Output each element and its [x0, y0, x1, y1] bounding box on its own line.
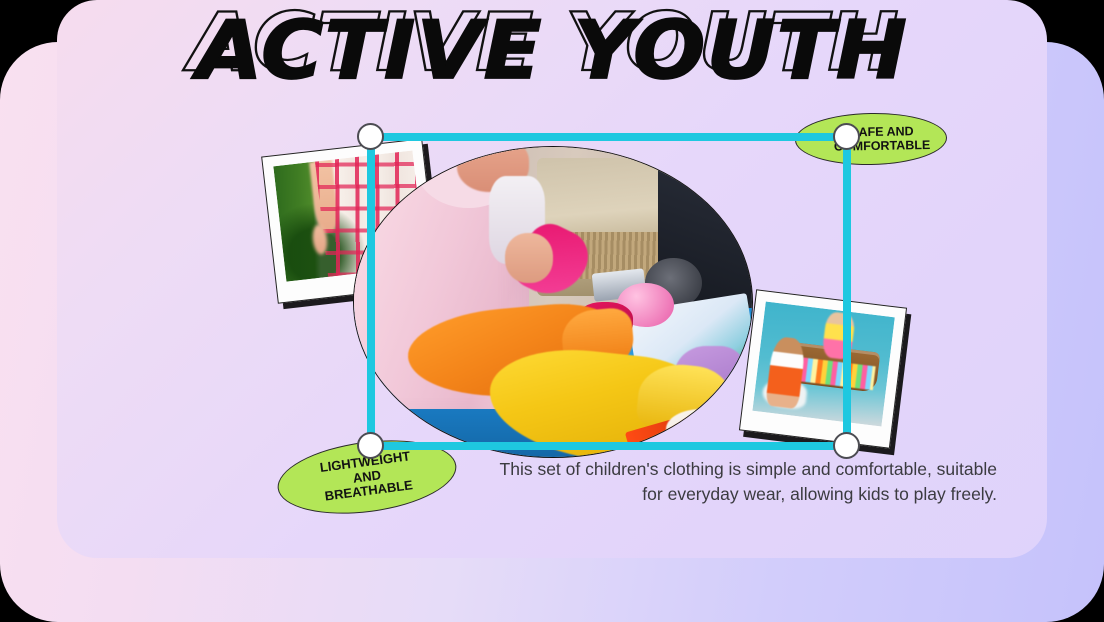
slide-canvas: ACTIVE YOUTH ACTIVE YOUTH: [0, 0, 1104, 622]
basket-photo-art: [752, 302, 894, 427]
selection-edge-bottom[interactable]: [371, 442, 847, 450]
photo-basket-kids-image: [752, 302, 894, 427]
photo-center-dinosaurs[interactable]: [353, 146, 753, 458]
selection-edge-top[interactable]: [371, 133, 847, 141]
child-hand: [505, 233, 553, 283]
resize-handle-top-left[interactable]: [357, 123, 384, 150]
slide-surface: ACTIVE YOUTH ACTIVE YOUTH: [57, 0, 1047, 558]
title-text: ACTIVE YOUTH: [196, 3, 907, 97]
center-photo-art: [353, 146, 753, 458]
resize-handle-bottom-left[interactable]: [357, 432, 384, 459]
body-paragraph: This set of children's clothing is simpl…: [497, 457, 997, 507]
page-title: ACTIVE YOUTH ACTIVE YOUTH: [57, 14, 1047, 86]
selection-edge-left[interactable]: [367, 137, 375, 446]
resize-handle-bottom-right[interactable]: [833, 432, 860, 459]
title-shadow-layer: ACTIVE YOUTH: [188, 2, 899, 83]
resize-handle-top-right[interactable]: [833, 123, 860, 150]
photo-basket-kids[interactable]: [739, 289, 907, 448]
selection-edge-right[interactable]: [843, 137, 851, 446]
